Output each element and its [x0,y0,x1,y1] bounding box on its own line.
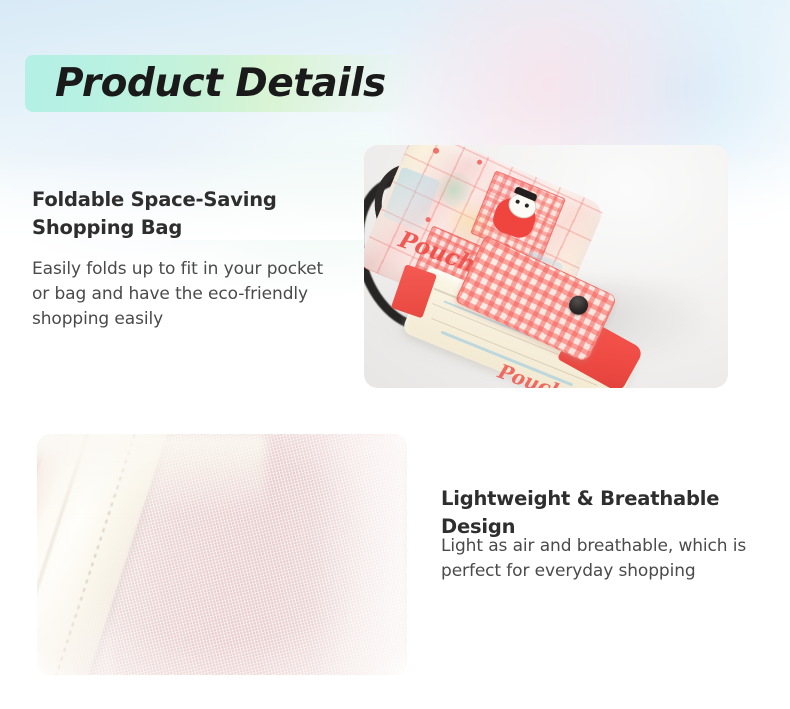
feature-2-body: Light as air and breathable, which is pe… [441,534,771,584]
bag-fold-script-text: Pouch [495,359,568,388]
feature-2-image [37,434,407,675]
bag-photo-inner: Pouch Pouch [364,145,728,388]
fabric-vignette [37,434,407,675]
page-title: Product Details [55,55,475,112]
product-details-page: Product Details Foldable Space-Saving Sh… [0,0,790,709]
feature-1-body: Easily folds up to fit in your pocket or… [32,257,332,332]
feature-1-heading: Foldable Space-Saving Shopping Bag [32,186,332,242]
fabric-photo-inner [37,434,407,675]
feature-1-image: Pouch Pouch [364,145,728,388]
feature-2-heading: Lightweight & Breathable Design [441,485,786,541]
